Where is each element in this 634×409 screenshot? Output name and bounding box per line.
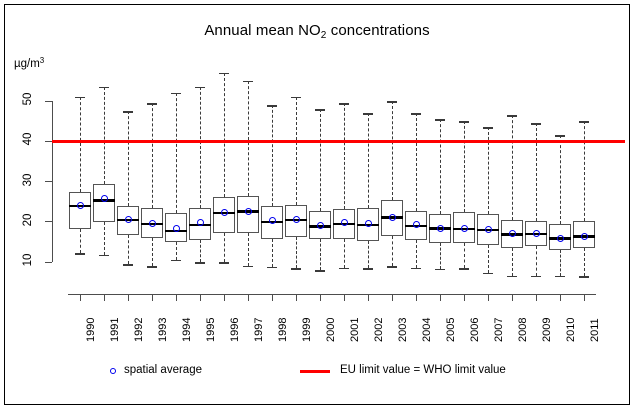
whisker-lower [584, 248, 585, 277]
boxplot-box[interactable] [69, 192, 91, 229]
spatial-average-marker [341, 219, 348, 226]
x-axis-tick [392, 294, 393, 301]
whisker-lower [392, 236, 393, 266]
whisker-cap-lower [291, 268, 301, 270]
x-axis-tick-label: 1994 [181, 318, 193, 342]
y-axis-tick-label: 50 [22, 81, 34, 117]
whisker-cap-upper [99, 87, 109, 89]
whisker-upper [392, 101, 393, 200]
whisker-cap-lower [435, 269, 445, 271]
whisker-upper [560, 135, 561, 224]
x-axis-tick [200, 294, 201, 301]
x-axis-tick [320, 294, 321, 301]
spatial-average-marker [269, 217, 276, 224]
whisker-lower [320, 239, 321, 270]
x-axis-tick [248, 294, 249, 301]
whisker-lower [536, 246, 537, 275]
spatial-average-marker [149, 220, 156, 227]
whisker-upper [536, 123, 537, 221]
whisker-cap-upper [507, 115, 517, 117]
whisker-cap-lower [147, 266, 157, 268]
x-axis-tick [344, 294, 345, 301]
x-axis-tick [224, 294, 225, 301]
x-axis-tick [296, 294, 297, 301]
plot-area: 1020304050199019911992199319941995199619… [0, 0, 634, 409]
spatial-average-marker [365, 220, 372, 227]
y-axis-tick [45, 101, 52, 102]
x-axis-tick-label: 1991 [109, 318, 121, 342]
whisker-upper [320, 109, 321, 211]
x-axis-tick [488, 294, 489, 301]
whisker-lower [80, 229, 81, 254]
y-axis-tick [45, 181, 52, 182]
whisker-cap-upper [75, 97, 85, 99]
whisker-cap-lower [171, 260, 181, 262]
whisker-cap-lower [243, 266, 253, 268]
whisker-upper [200, 87, 201, 209]
spatial-average-marker [245, 208, 252, 215]
x-axis-tick-label: 2005 [445, 318, 457, 342]
x-axis-tick-label: 2009 [541, 318, 553, 342]
whisker-lower [296, 237, 297, 268]
whisker-lower [344, 239, 345, 268]
whisker-cap-upper [291, 97, 301, 99]
spatial-average-marker [533, 230, 540, 237]
x-axis-line [68, 294, 596, 295]
spatial-average-marker [317, 222, 324, 229]
whisker-upper [368, 113, 369, 208]
spatial-average-marker [581, 233, 588, 240]
x-axis-tick [152, 294, 153, 301]
whisker-cap-lower [579, 276, 589, 278]
whisker-cap-lower [387, 266, 397, 268]
x-axis-tick-label: 1990 [85, 318, 97, 342]
legend-limit-label: EU limit value = WHO limit value [340, 364, 506, 376]
spatial-average-marker [101, 195, 108, 202]
whisker-upper [176, 93, 177, 213]
whisker-cap-upper [579, 121, 589, 123]
whisker-cap-upper [243, 81, 253, 83]
spatial-average-marker [389, 214, 396, 221]
eu-who-limit-line [52, 140, 625, 143]
x-axis-tick [560, 294, 561, 301]
whisker-upper [296, 97, 297, 205]
x-axis-tick-label: 2007 [493, 318, 505, 342]
x-axis-tick [128, 294, 129, 301]
spatial-average-marker [509, 230, 516, 237]
whisker-lower [368, 241, 369, 269]
whisker-cap-upper [315, 109, 325, 111]
x-axis-tick-label: 1995 [205, 318, 217, 342]
whisker-cap-upper [531, 123, 541, 125]
x-axis-tick-label: 1992 [133, 318, 145, 342]
spatial-average-marker [293, 216, 300, 223]
x-axis-tick-label: 2010 [565, 318, 577, 342]
x-axis-tick [80, 294, 81, 301]
whisker-lower [224, 233, 225, 262]
x-axis-tick [440, 294, 441, 301]
whisker-upper [128, 111, 129, 206]
whisker-cap-lower [483, 273, 493, 275]
y-axis-tick [45, 262, 52, 263]
whisker-lower [560, 250, 561, 275]
whisker-cap-upper [123, 111, 133, 113]
whisker-lower [248, 233, 249, 266]
whisker-cap-upper [411, 113, 421, 115]
x-axis-tick-label: 2002 [373, 318, 385, 342]
whisker-lower [200, 240, 201, 262]
y-axis-tick-label: 40 [22, 121, 34, 157]
x-axis-tick-label: 1997 [253, 318, 265, 342]
x-axis-tick-label: 1998 [277, 318, 289, 342]
whisker-lower [440, 243, 441, 269]
whisker-cap-lower [507, 276, 517, 278]
whisker-upper [584, 121, 585, 221]
x-axis-tick [272, 294, 273, 301]
whisker-cap-upper [267, 105, 277, 107]
x-axis-tick [536, 294, 537, 301]
x-axis-tick-label: 2001 [349, 318, 361, 342]
whisker-cap-upper [459, 121, 469, 123]
whisker-lower [416, 240, 417, 267]
whisker-lower [272, 239, 273, 267]
x-axis-tick [584, 294, 585, 301]
figure-root: Annual mean NO2 concentrations µg/m3 102… [0, 0, 634, 409]
x-axis-tick [416, 294, 417, 301]
whisker-cap-upper [219, 73, 229, 75]
x-axis-tick [464, 294, 465, 301]
whisker-upper [152, 103, 153, 208]
whisker-upper [440, 119, 441, 214]
chart-legend: spatial average EU limit value = WHO lim… [0, 362, 634, 382]
y-axis-line [52, 101, 53, 262]
x-axis-tick-label: 2000 [325, 318, 337, 342]
spatial-average-marker [197, 219, 204, 226]
x-axis-tick [368, 294, 369, 301]
y-axis-tick-label: 20 [22, 202, 34, 238]
whisker-cap-upper [363, 113, 373, 115]
boxplot-box[interactable] [93, 184, 115, 222]
x-axis-tick [104, 294, 105, 301]
whisker-upper [104, 87, 105, 184]
spatial-average-marker [485, 226, 492, 233]
whisker-lower [176, 242, 177, 260]
y-axis-tick-label: 30 [22, 162, 34, 198]
x-axis-tick [512, 294, 513, 301]
whisker-upper [512, 115, 513, 220]
whisker-upper [416, 113, 417, 211]
whisker-upper [464, 121, 465, 212]
whisker-cap-upper [195, 87, 205, 89]
whisker-cap-lower [315, 270, 325, 272]
legend-limit-line-icon [300, 370, 330, 373]
whisker-upper [80, 97, 81, 192]
spatial-average-marker [221, 209, 228, 216]
x-axis-tick-label: 1999 [301, 318, 313, 342]
whisker-upper [224, 73, 225, 197]
y-axis-tick [45, 221, 52, 222]
whisker-cap-lower [195, 262, 205, 264]
whisker-upper [344, 103, 345, 209]
x-axis-tick [176, 294, 177, 301]
x-axis-tick-label: 2006 [469, 318, 481, 342]
x-axis-tick-label: 2003 [397, 318, 409, 342]
whisker-cap-lower [267, 267, 277, 269]
spatial-average-marker [437, 225, 444, 232]
whisker-cap-lower [459, 268, 469, 270]
whisker-cap-lower [75, 253, 85, 255]
whisker-cap-upper [387, 101, 397, 103]
x-axis-tick-label: 1996 [229, 318, 241, 342]
whisker-upper [248, 81, 249, 197]
whisker-lower [152, 238, 153, 266]
spatial-average-marker [77, 202, 84, 209]
whisker-lower [128, 235, 129, 264]
whisker-cap-upper [147, 103, 157, 105]
whisker-cap-lower [411, 268, 421, 270]
y-axis-tick-label: 10 [22, 242, 34, 278]
x-axis-tick-label: 2004 [421, 318, 433, 342]
whisker-cap-lower [99, 255, 109, 257]
whisker-cap-lower [555, 276, 565, 278]
legend-spatial-average-label: spatial average [124, 364, 202, 376]
whisker-cap-lower [123, 264, 133, 266]
whisker-lower [104, 222, 105, 255]
legend-spatial-average-marker-icon [110, 368, 116, 374]
whisker-cap-upper [339, 103, 349, 105]
x-axis-tick-label: 2011 [589, 318, 601, 342]
whisker-lower [488, 245, 489, 273]
spatial-average-marker [125, 216, 132, 223]
whisker-cap-lower [363, 268, 373, 270]
whisker-lower [512, 248, 513, 276]
y-axis-tick [45, 141, 52, 142]
spatial-average-marker [413, 221, 420, 228]
spatial-average-marker [557, 235, 564, 242]
whisker-cap-lower [219, 262, 229, 264]
whisker-cap-lower [339, 268, 349, 270]
x-axis-tick-label: 2008 [517, 318, 529, 342]
whisker-upper [272, 105, 273, 206]
whisker-cap-upper [483, 127, 493, 129]
whisker-lower [464, 243, 465, 268]
whisker-cap-upper [435, 119, 445, 121]
whisker-cap-upper [171, 93, 181, 95]
x-axis-tick-label: 1993 [157, 318, 169, 342]
whisker-cap-lower [531, 276, 541, 278]
whisker-cap-upper [555, 135, 565, 137]
